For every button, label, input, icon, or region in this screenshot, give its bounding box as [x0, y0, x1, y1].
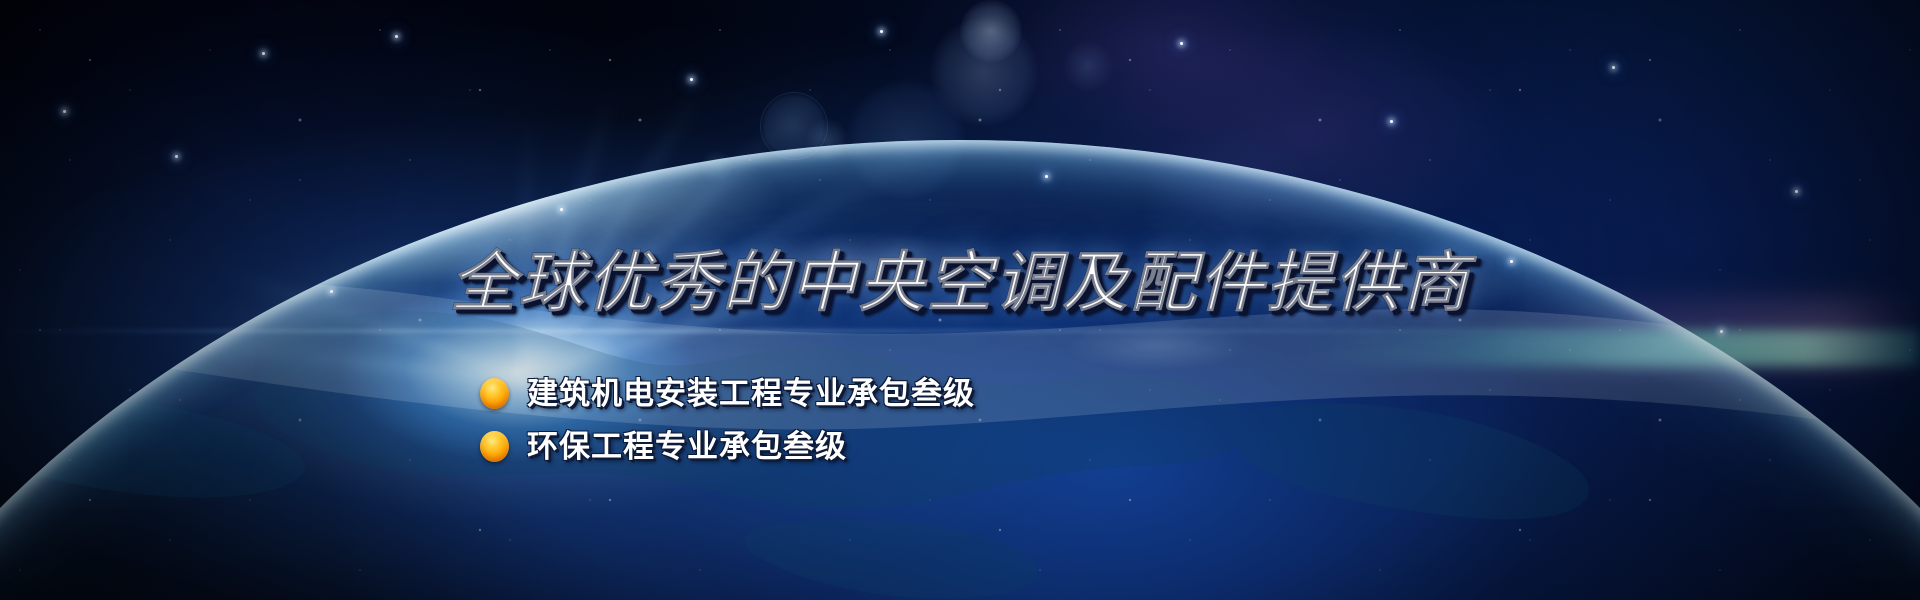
- list-item: 环保工程专业承包叁级: [480, 431, 975, 462]
- certification-label: 环保工程专业承包叁级: [527, 431, 847, 462]
- list-item: 建筑机电安装工程专业承包叁级: [480, 378, 975, 409]
- certification-label: 建筑机电安装工程专业承包叁级: [527, 378, 975, 409]
- banner-content: 全球优秀的中央空调及配件提供商 建筑机电安装工程专业承包叁级 环保工程专业承包叁…: [0, 0, 1920, 600]
- hero-banner: 全球优秀的中央空调及配件提供商 建筑机电安装工程专业承包叁级 环保工程专业承包叁…: [0, 0, 1920, 600]
- orange-dot-icon: [480, 431, 509, 462]
- orange-dot-icon: [480, 378, 509, 409]
- banner-headline: 全球优秀的中央空调及配件提供商: [450, 249, 1470, 315]
- certification-list: 建筑机电安装工程专业承包叁级 环保工程专业承包叁级: [480, 378, 975, 462]
